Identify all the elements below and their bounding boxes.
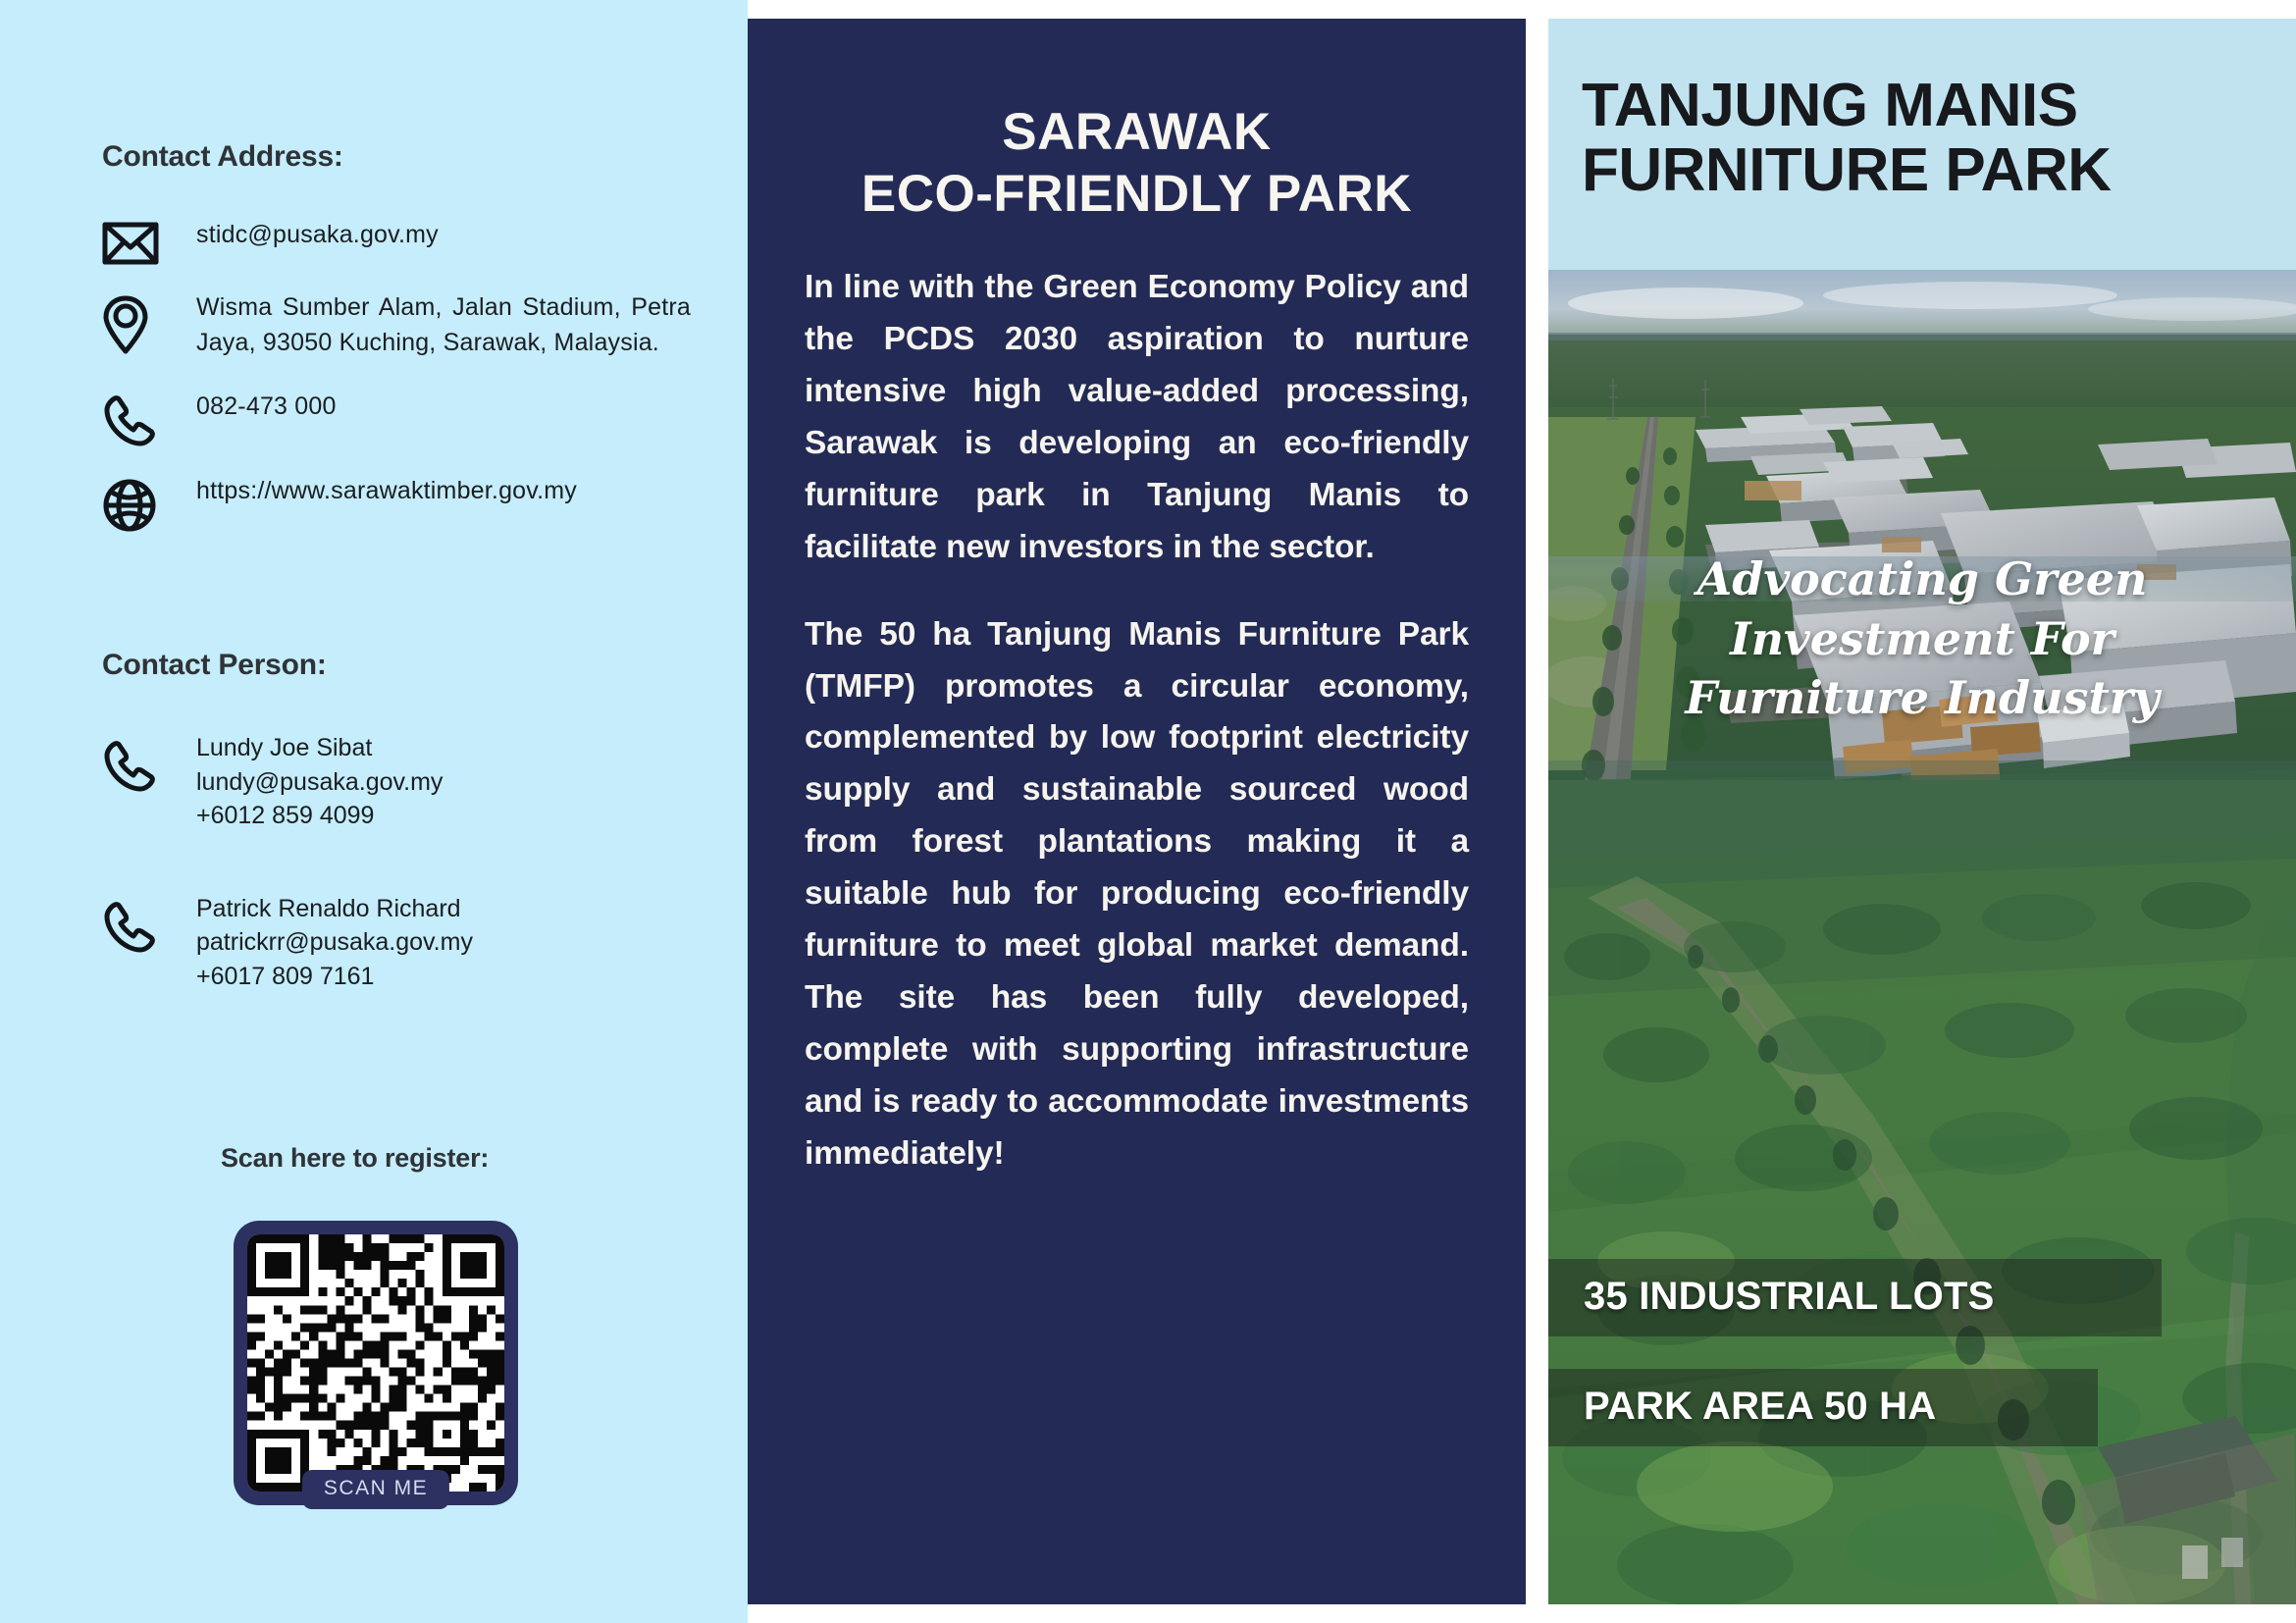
qr-code-image bbox=[247, 1234, 504, 1492]
center-title-line1: SARAWAK bbox=[1002, 103, 1271, 161]
contact-address-text: Wisma Sumber Alam, Jalan Stadium, Petra … bbox=[196, 290, 691, 360]
contact-row-address: Wisma Sumber Alam, Jalan Stadium, Petra … bbox=[102, 290, 691, 360]
center-panel-title: SARAWAK ECO-FRIENDLY PARK bbox=[805, 102, 1469, 225]
contact-row-phone: 082-473 000 bbox=[102, 390, 691, 448]
center-panel: SARAWAK ECO-FRIENDLY PARK In line with t… bbox=[748, 19, 1526, 1604]
cover-title-line1: TANJUNG MANIS bbox=[1582, 72, 2078, 139]
cover-title-line2: FURNITURE PARK bbox=[1582, 138, 2263, 203]
center-paragraph-1: In line with the Green Economy Policy an… bbox=[805, 262, 1469, 574]
contact-person-phone: +6017 809 7161 bbox=[196, 960, 473, 994]
contact-person-name: Patrick Renaldo Richard bbox=[196, 892, 473, 926]
contact-person-email: lundy@pusaka.gov.my bbox=[196, 765, 443, 800]
qr-code-matrix bbox=[247, 1234, 504, 1492]
contact-person-heading: Contact Person: bbox=[102, 649, 327, 682]
contact-row-email: stidc@pusaka.gov.my bbox=[102, 218, 691, 265]
qr-code[interactable]: SCAN ME bbox=[234, 1221, 518, 1505]
contact-row-website: https://www.sarawaktimber.gov.my bbox=[102, 474, 691, 533]
envelope-icon bbox=[102, 218, 196, 265]
brochure-page: Contact Address: stidc@pusaka.gov.my bbox=[0, 0, 2296, 1623]
contact-address-list: stidc@pusaka.gov.my Wisma Sumber Alam, J… bbox=[102, 218, 691, 533]
phone-icon bbox=[102, 731, 196, 794]
contact-person-name: Lundy Joe Sibat bbox=[196, 731, 443, 765]
contact-person-list: Lundy Joe Sibat lundy@pusaka.gov.my +601… bbox=[102, 731, 710, 1052]
globe-icon bbox=[102, 474, 196, 533]
scan-here-heading: Scan here to register: bbox=[221, 1143, 489, 1174]
phone-icon bbox=[102, 892, 196, 955]
contact-address-heading: Contact Address: bbox=[102, 140, 343, 174]
contact-person-details: Lundy Joe Sibat lundy@pusaka.gov.my +601… bbox=[196, 731, 443, 833]
badge-park-area: PARK AREA 50 HA bbox=[1548, 1369, 2098, 1446]
contact-website-text[interactable]: https://www.sarawaktimber.gov.my bbox=[196, 474, 691, 509]
contact-person-details: Patrick Renaldo Richard patrickrr@pusaka… bbox=[196, 892, 473, 994]
cover-header: TANJUNG MANIS FURNITURE PARK bbox=[1548, 19, 2296, 270]
center-title-line2: ECO-FRIENDLY PARK bbox=[805, 164, 1469, 226]
phone-icon bbox=[102, 390, 196, 448]
scan-me-label: SCAN ME bbox=[302, 1470, 449, 1509]
contact-panel: Contact Address: stidc@pusaka.gov.my bbox=[0, 0, 748, 1623]
badge-industrial-lots: 35 INDUSTRIAL LOTS bbox=[1548, 1259, 2162, 1336]
contact-person-item: Lundy Joe Sibat lundy@pusaka.gov.my +601… bbox=[102, 731, 710, 833]
contact-phone-text: 082-473 000 bbox=[196, 390, 691, 425]
contact-person-email: patrickrr@pusaka.gov.my bbox=[196, 925, 473, 960]
contact-email-text: stidc@pusaka.gov.my bbox=[196, 218, 691, 253]
location-pin-icon bbox=[102, 290, 196, 355]
center-panel-body: In line with the Green Economy Policy an… bbox=[805, 262, 1469, 1180]
contact-person-phone: +6012 859 4099 bbox=[196, 799, 443, 833]
cover-title: TANJUNG MANIS FURNITURE PARK bbox=[1582, 74, 2263, 204]
cover-panel: TANJUNG MANIS FURNITURE PARK bbox=[1548, 19, 2296, 1604]
center-paragraph-2: The 50 ha Tanjung Manis Furniture Park (… bbox=[805, 609, 1469, 1180]
aerial-photo: Advocating Green Investment For Furnitur… bbox=[1548, 270, 2296, 1604]
contact-person-item: Patrick Renaldo Richard patrickrr@pusaka… bbox=[102, 892, 710, 994]
